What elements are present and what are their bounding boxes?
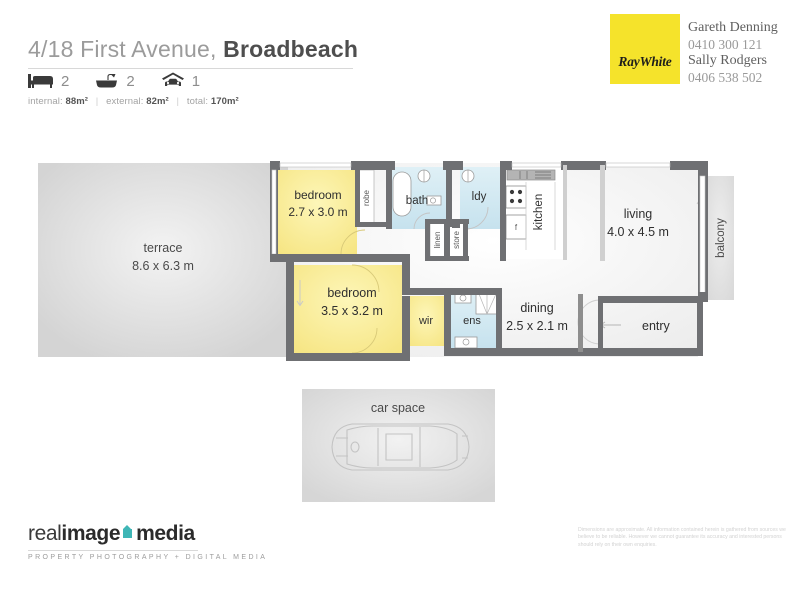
terrace-dims: 8.6 x 6.3 m [132,259,194,273]
room-kitchen: f kitchen [506,167,564,259]
floorplan-drawing: terrace 8.6 x 6.3 m balcony bedroom 2.7 … [0,0,800,600]
bedroom-1-label: bedroom [294,188,341,202]
entry-label: entry [642,319,671,333]
dining-label: dining [520,301,553,315]
closet-robe: robe [358,170,374,226]
bathtub-fixture [393,172,411,216]
room-wir: wir [407,296,445,346]
car-space-label: car space [371,401,425,415]
disclaimer-text: Dimensions are approximate. All informat… [578,527,790,549]
realimage-media-logo: realimagemedia PROPERTY PHOTOGRAPHY + DI… [28,522,267,561]
room-terrace: terrace 8.6 x 6.3 m [38,163,288,357]
living-dims: 4.0 x 4.5 m [607,225,669,239]
store-label: store [452,231,461,249]
living-label: living [624,207,653,221]
bath-label: bath [406,195,428,207]
logo-wordmark: realimagemedia [28,522,267,546]
room-balcony: balcony [706,176,734,300]
room-bedroom-2: bedroom 3.5 x 3.2 m [292,265,402,353]
floorplan-page: 4/18 First Avenue, Broadbeach 2 2 [0,0,800,600]
ensuite-basin-fixture [455,337,477,348]
cooktop-fixture [506,186,526,208]
bedroom-2-label: bedroom [327,286,376,300]
room-ensuite: ens [450,292,500,348]
bedroom-1-dims: 2.7 x 3.0 m [288,205,347,219]
logo-part-real: real [28,522,61,545]
kitchen-label: kitchen [533,194,545,230]
bedroom-2-dims: 3.5 x 3.2 m [321,304,383,318]
closet-linen: linen [430,222,445,258]
linen-label: linen [433,232,442,249]
ldy-label: ldy [472,191,487,203]
toilet-fixture [427,196,441,205]
logo-part-image: image [61,522,120,545]
logo-divider [28,550,198,551]
balcony-label: balcony [715,218,727,258]
house-dot-icon [123,529,132,538]
terrace-label: terrace [144,241,183,255]
dining-dims: 2.5 x 2.1 m [506,319,568,333]
wir-label: wir [418,315,433,327]
car-space-area: car space [302,389,495,502]
logo-part-media: media [136,522,195,545]
robe-label: robe [362,189,371,206]
logo-tagline: PROPERTY PHOTOGRAPHY + DIGITAL MEDIA [28,554,267,561]
ens-label: ens [463,315,481,327]
